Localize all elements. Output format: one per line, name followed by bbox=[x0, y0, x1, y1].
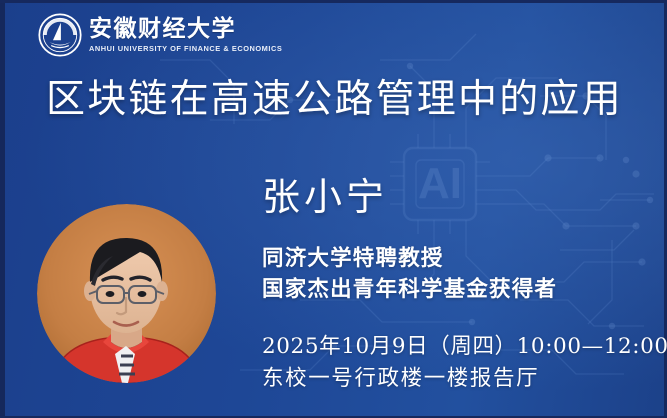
speaker-name: 张小宁 bbox=[262, 166, 388, 221]
poster-title: 区块链在高速公路管理中的应用 bbox=[46, 78, 651, 122]
speaker-photo bbox=[37, 204, 216, 383]
event-venue: 东校一号行政楼一楼报告厅 bbox=[262, 363, 667, 395]
event-info: 2025年10月9日（周四）10:00—12:00 东校一号行政楼一楼报告厅 bbox=[262, 331, 667, 394]
poster-edge-top bbox=[0, 0, 667, 3]
university-name-cn: 安徽财经大学 bbox=[89, 17, 282, 41]
poster-edge-left bbox=[0, 0, 5, 418]
speaker-credentials: 同济大学特聘教授 国家杰出青年科学基金获得者 bbox=[262, 243, 557, 305]
university-logo-text: 安徽财经大学 ANHUI UNIVERSITY OF FINANCE & ECO… bbox=[89, 17, 282, 52]
credential-line-2: 国家杰出青年科学基金获得者 bbox=[262, 274, 557, 305]
anhui-ufe-emblem-icon bbox=[38, 13, 82, 57]
event-datetime: 2025年10月9日（周四）10:00—12:00 bbox=[262, 331, 667, 363]
seminar-poster: AI 安徽财经大学 ANHUI UNIVERSITY OF FINANCE & … bbox=[0, 0, 667, 418]
svg-text:AI: AI bbox=[418, 159, 462, 208]
university-name-en: ANHUI UNIVERSITY OF FINANCE & ECONOMICS bbox=[89, 44, 282, 53]
university-logo: 安徽财经大学 ANHUI UNIVERSITY OF FINANCE & ECO… bbox=[38, 13, 282, 57]
credential-line-1: 同济大学特聘教授 bbox=[262, 243, 557, 274]
